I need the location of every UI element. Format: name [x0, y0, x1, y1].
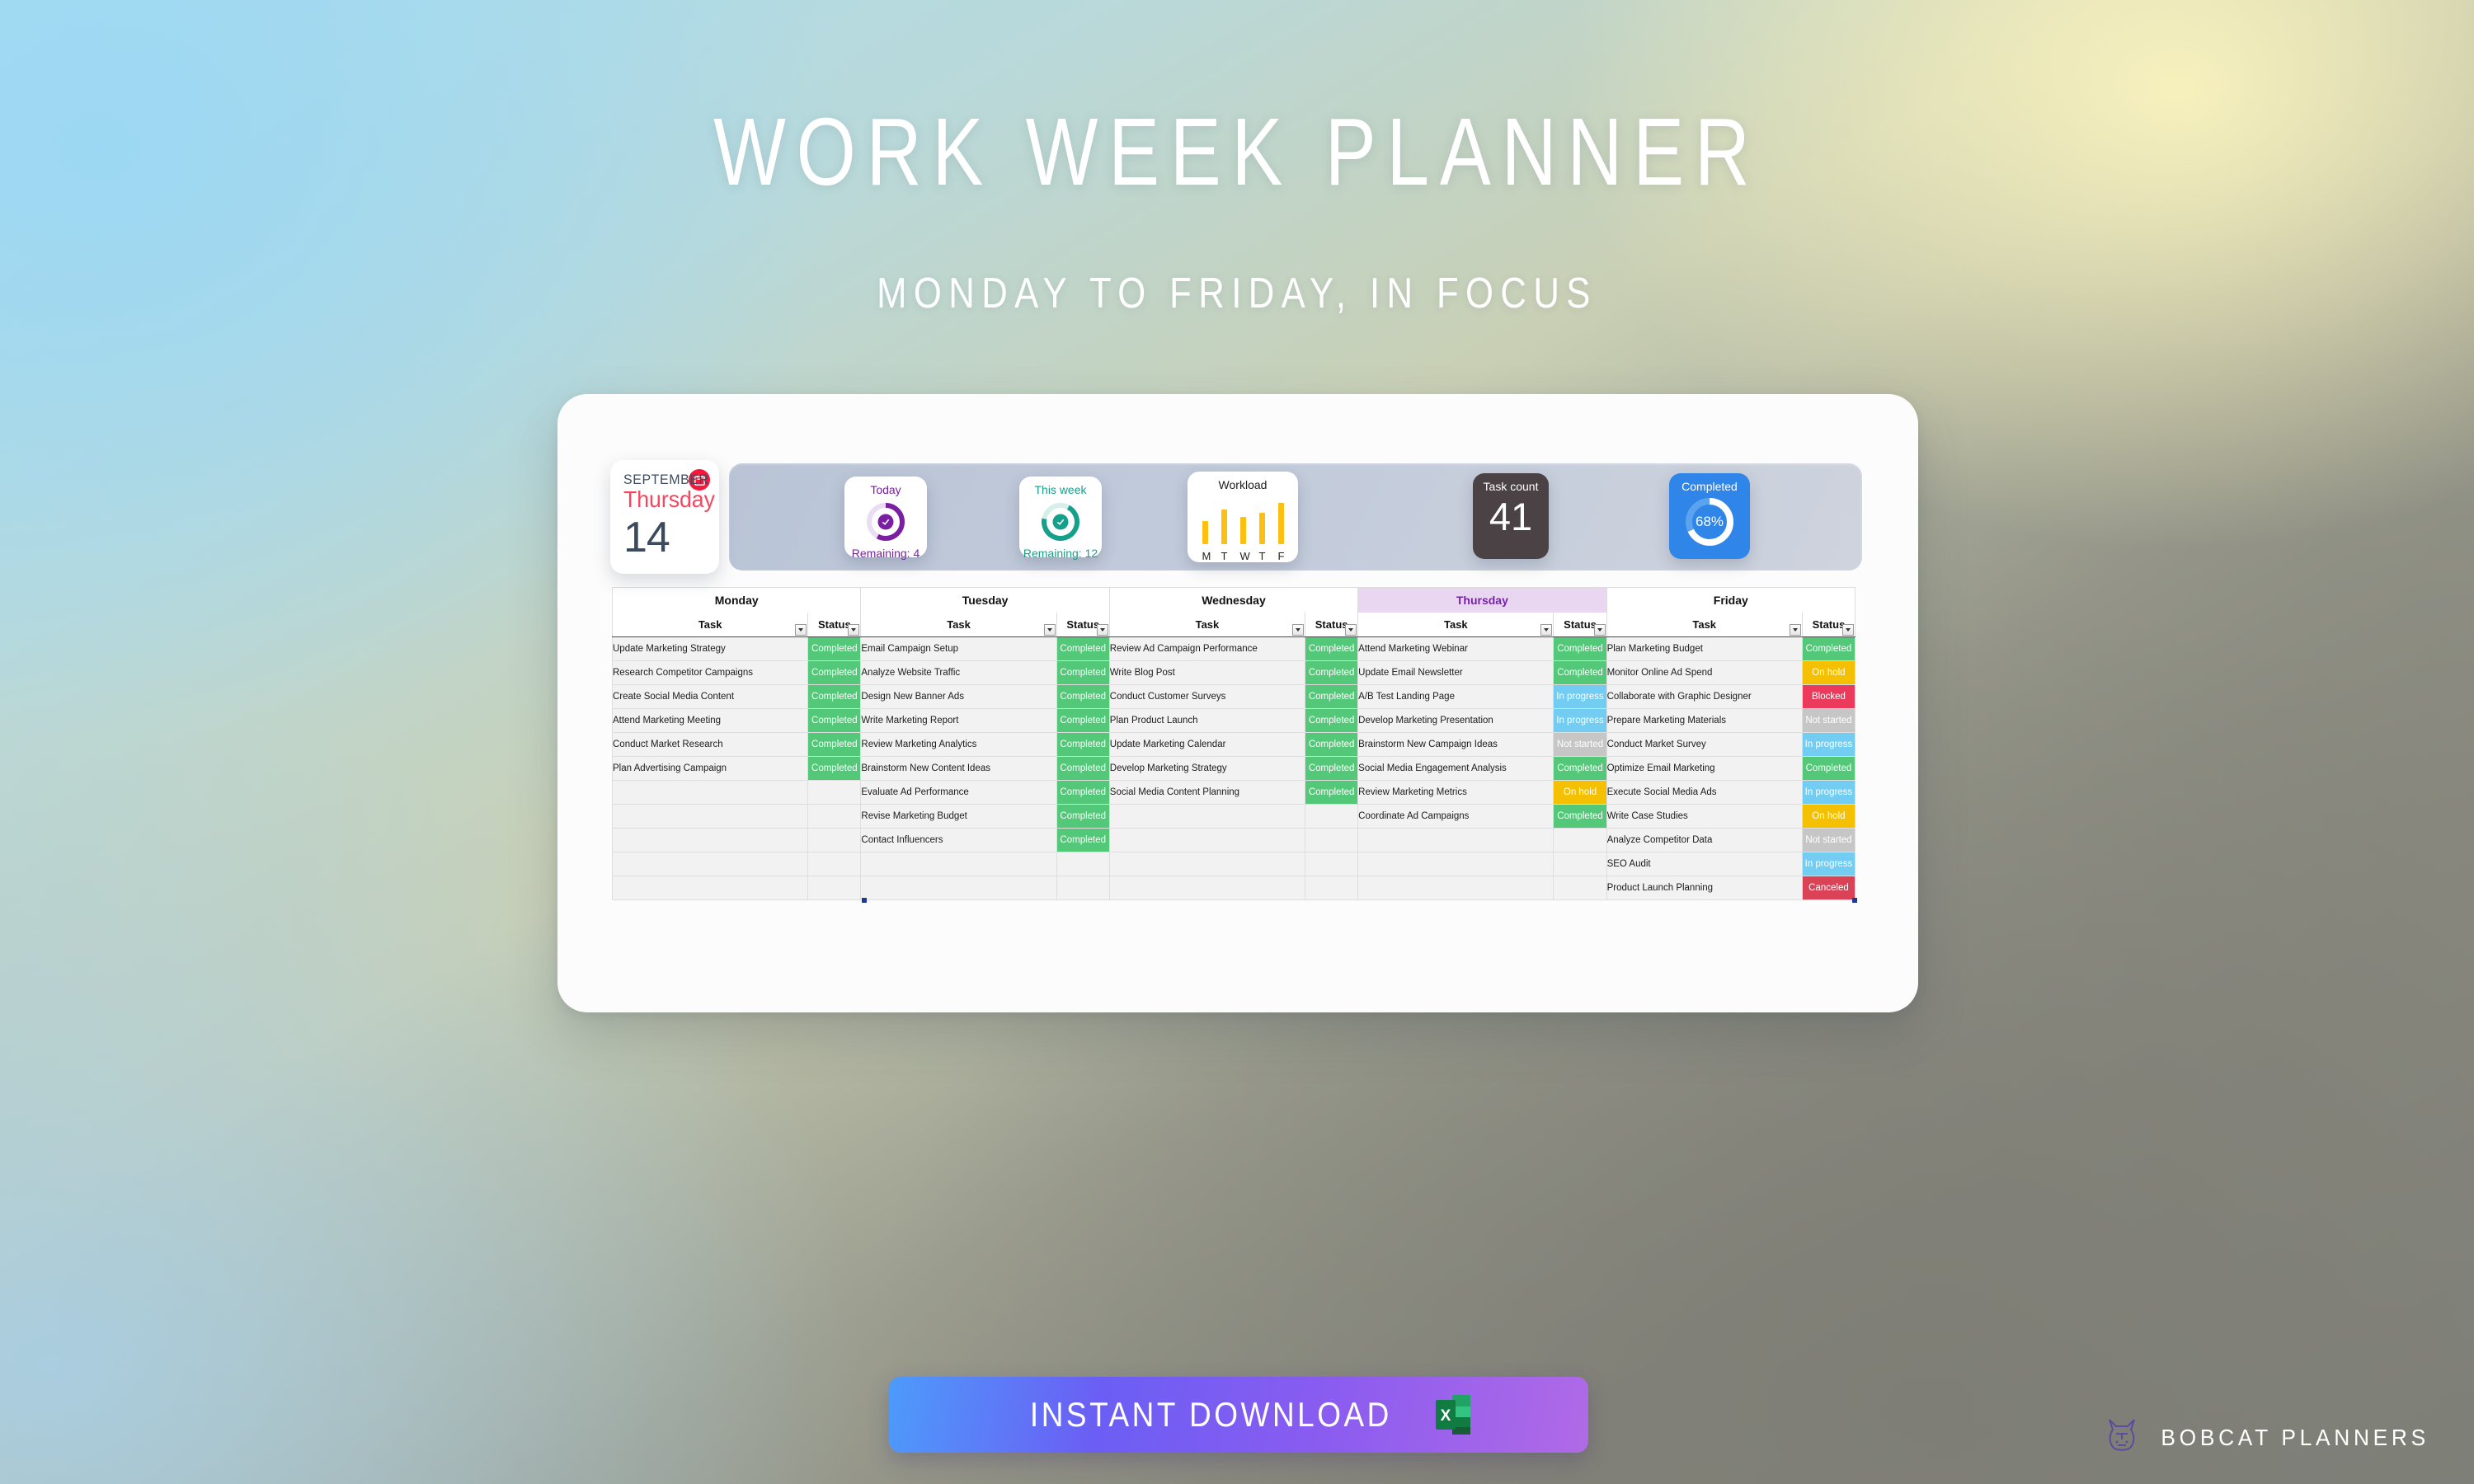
task-cell[interactable] — [861, 876, 1056, 900]
task-cell[interactable]: Plan Advertising Campaign — [613, 757, 808, 781]
task-cell[interactable]: Evaluate Ad Performance — [861, 781, 1056, 805]
widget-completed-label: Completed — [1681, 481, 1738, 492]
chevron-down-icon[interactable] — [1292, 624, 1304, 636]
workload-bar-labels: MTWTF — [1202, 550, 1284, 562]
status-cell[interactable]: Not started — [1802, 709, 1855, 733]
svg-text:X: X — [1441, 1407, 1451, 1425]
today-donut-chart — [864, 500, 907, 543]
date-card: SEPTEMBER Thursday 14 — [610, 460, 719, 574]
task-cell[interactable] — [1358, 852, 1554, 876]
status-cell[interactable]: Completed — [1802, 757, 1855, 781]
status-cell[interactable] — [1305, 852, 1358, 876]
task-cell[interactable]: Review Marketing Analytics — [861, 733, 1056, 757]
status-cell[interactable] — [1554, 852, 1606, 876]
status-cell[interactable]: Completed — [1305, 685, 1358, 709]
column-header-status[interactable]: Status — [1305, 613, 1358, 637]
status-cell[interactable]: On hold — [1802, 805, 1855, 829]
workload-bar-label: F — [1278, 550, 1284, 562]
table-row[interactable]: Product Launch PlanningCanceled — [613, 876, 1855, 900]
chevron-down-icon[interactable] — [1097, 624, 1108, 636]
widget-workload[interactable]: Workload MTWTF — [1188, 472, 1298, 562]
weekly-task-table[interactable]: MondayTuesdayWednesdayThursdayFriday Tas… — [612, 587, 1855, 900]
column-header-status[interactable]: Status — [1802, 613, 1855, 637]
widget-workload-label: Workload — [1219, 479, 1268, 491]
status-cell[interactable] — [1554, 876, 1606, 900]
widget-this-week[interactable]: This week Remaining: 12 — [1019, 477, 1102, 557]
column-header-status[interactable]: Status — [1554, 613, 1606, 637]
task-cell[interactable]: Update Email Newsletter — [1358, 661, 1554, 685]
status-cell[interactable] — [808, 876, 861, 900]
task-cell[interactable]: Social Media Content Planning — [1109, 781, 1305, 805]
column-header-status[interactable]: Status — [1056, 613, 1109, 637]
day-header-friday[interactable]: Friday — [1606, 588, 1855, 613]
task-cell[interactable]: Collaborate with Graphic Designer — [1606, 685, 1802, 709]
widget-completed-value: 68% — [1691, 504, 1728, 540]
workload-bar-label: T — [1259, 550, 1265, 562]
table-column-header-row: TaskStatusTaskStatusTaskStatusTaskStatus… — [613, 613, 1855, 637]
status-cell[interactable] — [1056, 852, 1109, 876]
task-cell[interactable] — [1109, 829, 1305, 852]
task-cell[interactable] — [613, 876, 808, 900]
status-cell[interactable] — [1305, 829, 1358, 852]
date-month: SEPTEMBER — [623, 472, 703, 488]
brand-logo: BOBCAT PLANNERS — [2105, 1416, 2438, 1458]
status-cell[interactable] — [1305, 876, 1358, 900]
status-cell[interactable]: Completed — [808, 757, 861, 781]
status-cell[interactable]: Not started — [1554, 733, 1606, 757]
status-cell[interactable]: Completed — [1056, 709, 1109, 733]
status-cell[interactable]: Completed — [1802, 637, 1855, 661]
day-header-wednesday[interactable]: Wednesday — [1109, 588, 1357, 613]
column-header-task[interactable]: Task — [1358, 613, 1554, 637]
status-cell[interactable]: Completed — [1305, 757, 1358, 781]
workload-bar — [1259, 513, 1265, 544]
table-row[interactable]: Revise Marketing BudgetCompletedCoordina… — [613, 805, 1855, 829]
status-cell[interactable]: Blocked — [1802, 685, 1855, 709]
selection-handle[interactable] — [862, 898, 867, 903]
table-row[interactable]: Evaluate Ad PerformanceCompletedSocial M… — [613, 781, 1855, 805]
status-cell[interactable]: In progress — [1802, 733, 1855, 757]
task-cell[interactable]: Monitor Online Ad Spend — [1606, 661, 1802, 685]
status-cell[interactable]: Completed — [1056, 757, 1109, 781]
status-cell[interactable]: On hold — [1802, 661, 1855, 685]
table-row[interactable]: Attend Marketing MeetingCompletedWrite M… — [613, 709, 1855, 733]
page-title: WORK WEEK PLANNER — [247, 104, 2227, 200]
status-cell[interactable] — [808, 829, 861, 852]
status-cell[interactable]: Completed — [808, 685, 861, 709]
task-cell[interactable]: Write Blog Post — [1109, 661, 1305, 685]
task-cell[interactable]: Update Marketing Strategy — [613, 637, 808, 661]
task-cell[interactable]: Develop Marketing Presentation — [1358, 709, 1554, 733]
task-cell[interactable]: Coordinate Ad Campaigns — [1358, 805, 1554, 829]
task-cell[interactable]: Design New Banner Ads — [861, 685, 1056, 709]
status-cell[interactable]: Completed — [808, 733, 861, 757]
table-row[interactable]: Research Competitor CampaignsCompletedAn… — [613, 661, 1855, 685]
status-cell[interactable]: Completed — [1056, 829, 1109, 852]
status-cell[interactable]: Completed — [1554, 661, 1606, 685]
task-cell[interactable]: Research Competitor Campaigns — [613, 661, 808, 685]
status-cell[interactable]: In progress — [1802, 781, 1855, 805]
task-cell[interactable]: Conduct Market Survey — [1606, 733, 1802, 757]
widget-this-week-label: This week — [1034, 484, 1086, 495]
task-cell[interactable]: A/B Test Landing Page — [1358, 685, 1554, 709]
selection-handle[interactable] — [1852, 898, 1857, 903]
table-day-header-row: MondayTuesdayWednesdayThursdayFriday — [613, 588, 1855, 613]
column-header-task[interactable]: Task — [1606, 613, 1802, 637]
status-cell[interactable]: Completed — [808, 709, 861, 733]
status-cell[interactable]: In progress — [1554, 685, 1606, 709]
workload-bar-label: M — [1202, 550, 1208, 562]
task-cell[interactable] — [1109, 805, 1305, 829]
task-cell[interactable]: Review Marketing Metrics — [1358, 781, 1554, 805]
task-cell[interactable]: Write Marketing Report — [861, 709, 1056, 733]
status-cell[interactable]: In progress — [1802, 852, 1855, 876]
workload-bars — [1202, 500, 1284, 544]
column-header-task[interactable]: Task — [613, 613, 808, 637]
workload-bar-label: T — [1221, 550, 1227, 562]
task-cell[interactable]: Brainstorm New Content Ideas — [861, 757, 1056, 781]
status-cell[interactable]: Completed — [808, 637, 861, 661]
task-cell[interactable]: Review Ad Campaign Performance — [1109, 637, 1305, 661]
task-cell[interactable]: Optimize Email Marketing — [1606, 757, 1802, 781]
widget-today[interactable]: Today Remaining: 4 — [844, 477, 927, 557]
task-cell[interactable]: Develop Marketing Strategy — [1109, 757, 1305, 781]
task-cell[interactable]: Update Marketing Calendar — [1109, 733, 1305, 757]
status-cell[interactable]: Completed — [1056, 685, 1109, 709]
check-icon — [878, 514, 894, 530]
check-icon — [1053, 514, 1069, 530]
chevron-down-icon[interactable] — [795, 624, 807, 636]
column-header-task[interactable]: Task — [1109, 613, 1305, 637]
task-cell[interactable]: Conduct Customer Surveys — [1109, 685, 1305, 709]
task-cell[interactable]: Write Case Studies — [1606, 805, 1802, 829]
table-row[interactable]: SEO AuditIn progress — [613, 852, 1855, 876]
status-cell[interactable]: Not started — [1802, 829, 1855, 852]
table-row[interactable]: Contact InfluencersCompletedAnalyze Comp… — [613, 829, 1855, 852]
widget-task-count-label: Task count — [1484, 481, 1539, 492]
day-header-thursday[interactable]: Thursday — [1358, 588, 1606, 613]
column-header-status[interactable]: Status — [808, 613, 861, 637]
date-weekday: Thursday — [623, 487, 703, 511]
task-cell[interactable]: Conduct Market Research — [613, 733, 808, 757]
excel-icon: X — [1434, 1393, 1472, 1436]
widget-task-count-value: 41 — [1489, 497, 1532, 536]
status-cell[interactable]: Completed — [1305, 709, 1358, 733]
completed-donut-chart: 68% — [1682, 495, 1737, 549]
status-cell[interactable]: Completed — [1305, 637, 1358, 661]
status-cell[interactable]: Completed — [1305, 661, 1358, 685]
status-cell[interactable]: Completed — [1554, 757, 1606, 781]
task-cell[interactable]: Prepare Marketing Materials — [1606, 709, 1802, 733]
date-day-number: 14 — [623, 516, 708, 559]
status-cell[interactable] — [1305, 805, 1358, 829]
workload-bar — [1202, 521, 1208, 544]
task-cell[interactable]: SEO Audit — [1606, 852, 1802, 876]
instant-download-button[interactable]: INSTANT DOWNLOAD X — [889, 1377, 1588, 1453]
chevron-down-icon[interactable] — [1044, 624, 1056, 636]
task-cell[interactable] — [861, 852, 1056, 876]
day-header-tuesday[interactable]: Tuesday — [861, 588, 1109, 613]
task-cell[interactable] — [1358, 829, 1554, 852]
status-cell[interactable]: Completed — [808, 661, 861, 685]
page-subtitle: MONDAY TO FRIDAY, IN FOCUS — [198, 272, 2276, 315]
task-cell[interactable] — [613, 781, 808, 805]
workload-bar-label: W — [1240, 550, 1246, 562]
task-cell[interactable]: Product Launch Planning — [1606, 876, 1802, 900]
status-cell[interactable] — [808, 781, 861, 805]
status-cell[interactable] — [1056, 876, 1109, 900]
status-cell[interactable]: On hold — [1554, 781, 1606, 805]
status-cell[interactable]: Completed — [1056, 805, 1109, 829]
task-cell[interactable]: Plan Marketing Budget — [1606, 637, 1802, 661]
chevron-down-icon[interactable] — [848, 624, 859, 636]
widget-completed[interactable]: Completed 68% — [1669, 473, 1750, 559]
status-cell[interactable]: Completed — [1305, 733, 1358, 757]
task-cell[interactable]: Attend Marketing Webinar — [1358, 637, 1554, 661]
task-cell[interactable] — [1109, 876, 1305, 900]
task-cell[interactable]: Contact Influencers — [861, 829, 1056, 852]
widget-today-label: Today — [870, 484, 901, 495]
table-row[interactable]: Update Marketing StrategyCompletedEmail … — [613, 637, 1855, 661]
workload-bar — [1278, 503, 1284, 544]
status-cell[interactable]: Completed — [1554, 637, 1606, 661]
task-cell[interactable]: Social Media Engagement Analysis — [1358, 757, 1554, 781]
chevron-down-icon[interactable] — [1790, 624, 1801, 636]
table-row[interactable]: Conduct Market ResearchCompletedReview M… — [613, 733, 1855, 757]
status-cell[interactable]: In progress — [1554, 709, 1606, 733]
status-cell[interactable]: Completed — [1305, 781, 1358, 805]
status-cell[interactable]: Completed — [1554, 805, 1606, 829]
status-cell[interactable]: Completed — [1056, 637, 1109, 661]
widget-today-footer: Remaining: 4 — [852, 547, 920, 559]
task-cell[interactable]: Analyze Competitor Data — [1606, 829, 1802, 852]
task-cell[interactable] — [1358, 876, 1554, 900]
page-background: WORK WEEK PLANNER MONDAY TO FRIDAY, IN F… — [0, 0, 2474, 1484]
chevron-down-icon[interactable] — [1594, 624, 1606, 636]
task-cell[interactable]: Execute Social Media Ads — [1606, 781, 1802, 805]
task-cell[interactable]: Create Social Media Content — [613, 685, 808, 709]
task-cell[interactable]: Analyze Website Traffic — [861, 661, 1056, 685]
task-cell[interactable] — [1109, 852, 1305, 876]
bobcat-head-icon — [2105, 1416, 2139, 1458]
status-cell[interactable]: Completed — [1056, 733, 1109, 757]
status-cell[interactable]: Completed — [1056, 781, 1109, 805]
column-header-task[interactable]: Task — [861, 613, 1056, 637]
chevron-down-icon[interactable] — [1345, 624, 1357, 636]
instant-download-label: INSTANT DOWNLOAD — [1030, 1395, 1392, 1435]
task-cell[interactable] — [613, 829, 808, 852]
table-row[interactable]: Create Social Media ContentCompletedDesi… — [613, 685, 1855, 709]
status-cell[interactable] — [808, 852, 861, 876]
workload-bar — [1240, 517, 1246, 544]
widget-this-week-footer: Remaining: 12 — [1023, 547, 1098, 559]
task-cell[interactable] — [613, 852, 808, 876]
table-row[interactable]: Plan Advertising CampaignCompletedBrains… — [613, 757, 1855, 781]
workload-bar — [1221, 510, 1227, 544]
task-cell[interactable]: Email Campaign Setup — [861, 637, 1056, 661]
widget-task-count[interactable]: Task count 41 — [1473, 473, 1549, 559]
brand-name: BOBCAT PLANNERS — [2161, 1425, 2429, 1451]
status-cell[interactable]: Canceled — [1802, 876, 1855, 900]
task-cell[interactable]: Attend Marketing Meeting — [613, 709, 808, 733]
status-cell[interactable]: Completed — [1056, 661, 1109, 685]
status-cell[interactable] — [1554, 829, 1606, 852]
chevron-down-icon[interactable] — [1842, 624, 1854, 636]
task-cell[interactable]: Revise Marketing Budget — [861, 805, 1056, 829]
task-cell[interactable]: Plan Product Launch — [1109, 709, 1305, 733]
this-week-donut-chart — [1039, 500, 1082, 543]
task-cell[interactable]: Brainstorm New Campaign Ideas — [1358, 733, 1554, 757]
status-cell[interactable] — [808, 805, 861, 829]
day-header-monday[interactable]: Monday — [613, 588, 861, 613]
task-cell[interactable] — [613, 805, 808, 829]
chevron-down-icon[interactable] — [1540, 624, 1552, 636]
